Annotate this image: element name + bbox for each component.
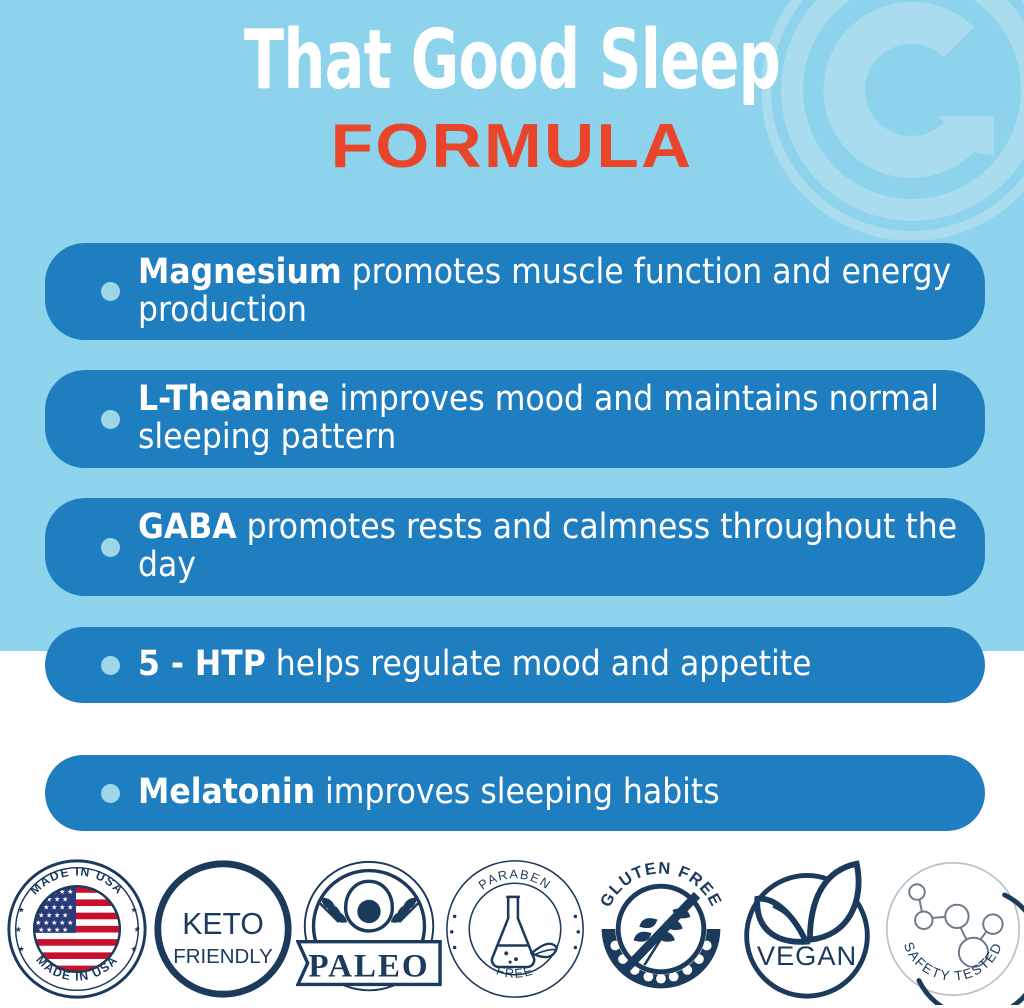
certification-badge-strip: ★ ★ ★ ★ ★ ★ ★ ★ ★ ★ ★ ★ ★ ★ ★ ★ ★ ★ ★ ★ …	[0, 850, 1024, 1008]
benefit-text: Melatonin improves sleeping habits	[138, 774, 720, 812]
benefit-ingredient: Melatonin	[138, 772, 315, 812]
svg-text:★ ★ ★ ★: ★ ★ ★ ★	[38, 926, 68, 934]
svg-text:SAFETY TESTED: SAFETY TESTED	[901, 940, 1005, 984]
benefit-row-5-htp: 5 - HTP helps regulate mood and appetite	[45, 627, 985, 703]
svg-text:★ ★ ★ ★: ★ ★ ★ ★	[38, 911, 68, 919]
badge-paraben-free-icon: PARABEN FREE	[442, 853, 588, 1005]
badge-label-top: KETO	[182, 908, 264, 941]
svg-text:★: ★	[15, 925, 22, 934]
benefit-description: promotes rests and calmness throughout t…	[138, 507, 957, 585]
svg-text:PARABEN: PARABEN	[476, 867, 554, 892]
badge-vegan-icon: VEGAN	[734, 853, 880, 1005]
benefit-row-gaba: GABA promotes rests and calmness through…	[45, 498, 985, 596]
badge-label-bottom: VEGAN	[757, 940, 857, 971]
badge-label-bottom: SAFETY TESTED	[901, 940, 1005, 984]
svg-text:★ ★ ★ ★ ★: ★ ★ ★ ★ ★	[35, 919, 73, 927]
badge-label-bottom: FRIENDLY	[173, 945, 273, 968]
benefit-text: GABA promotes rests and calmness through…	[138, 509, 959, 585]
svg-text:★: ★	[18, 944, 25, 953]
benefit-ingredient: L-Theanine	[138, 379, 330, 419]
benefit-description: improves sleeping habits	[315, 772, 720, 812]
badge-label-bottom: PALEO	[308, 949, 429, 985]
svg-text:★: ★	[18, 905, 25, 914]
benefit-text: 5 - HTP helps regulate mood and appetite	[138, 646, 811, 684]
badge-label-top: PARABEN	[476, 867, 554, 892]
bullet-dot-icon	[101, 784, 120, 803]
bullet-dot-icon	[101, 538, 120, 557]
bullet-dot-icon	[101, 410, 120, 429]
benefit-text: L-Theanine improves mood and maintains n…	[138, 381, 959, 457]
product-infographic: That Good Sleep FORMULA Magnesium promot…	[0, 0, 1024, 1008]
bullet-dot-icon	[101, 282, 120, 301]
benefit-list: Magnesium promotes muscle function and e…	[0, 0, 1024, 860]
benefit-description: helps regulate mood and appetite	[266, 644, 812, 684]
bullet-dot-icon	[101, 656, 120, 675]
benefit-row-l-theanine: L-Theanine improves mood and maintains n…	[45, 370, 985, 468]
svg-text:★: ★	[133, 925, 140, 934]
badge-safety-tested-icon: SAFETY TESTED	[880, 853, 1024, 1005]
badge-paleo-icon: PALEO	[296, 853, 442, 1005]
benefit-row-melatonin: Melatonin improves sleeping habits	[45, 755, 985, 831]
badge-keto-friendly-icon: KETO FRIENDLY	[150, 853, 296, 1005]
benefit-ingredient: GABA	[138, 507, 237, 547]
benefit-ingredient: Magnesium	[138, 252, 342, 292]
badge-gluten-free-icon: GLUTEN FREE	[588, 853, 734, 1005]
benefit-ingredient: 5 - HTP	[138, 644, 266, 684]
benefit-text: Magnesium promotes muscle function and e…	[138, 254, 959, 330]
svg-text:★: ★	[131, 944, 138, 953]
benefit-row-magnesium: Magnesium promotes muscle function and e…	[45, 243, 985, 340]
svg-text:★: ★	[131, 905, 138, 914]
badge-made-in-usa-icon: ★ ★ ★ ★ ★ ★ ★ ★ ★ ★ ★ ★ ★ ★ ★ ★ ★ ★ ★ ★ …	[4, 853, 150, 1005]
